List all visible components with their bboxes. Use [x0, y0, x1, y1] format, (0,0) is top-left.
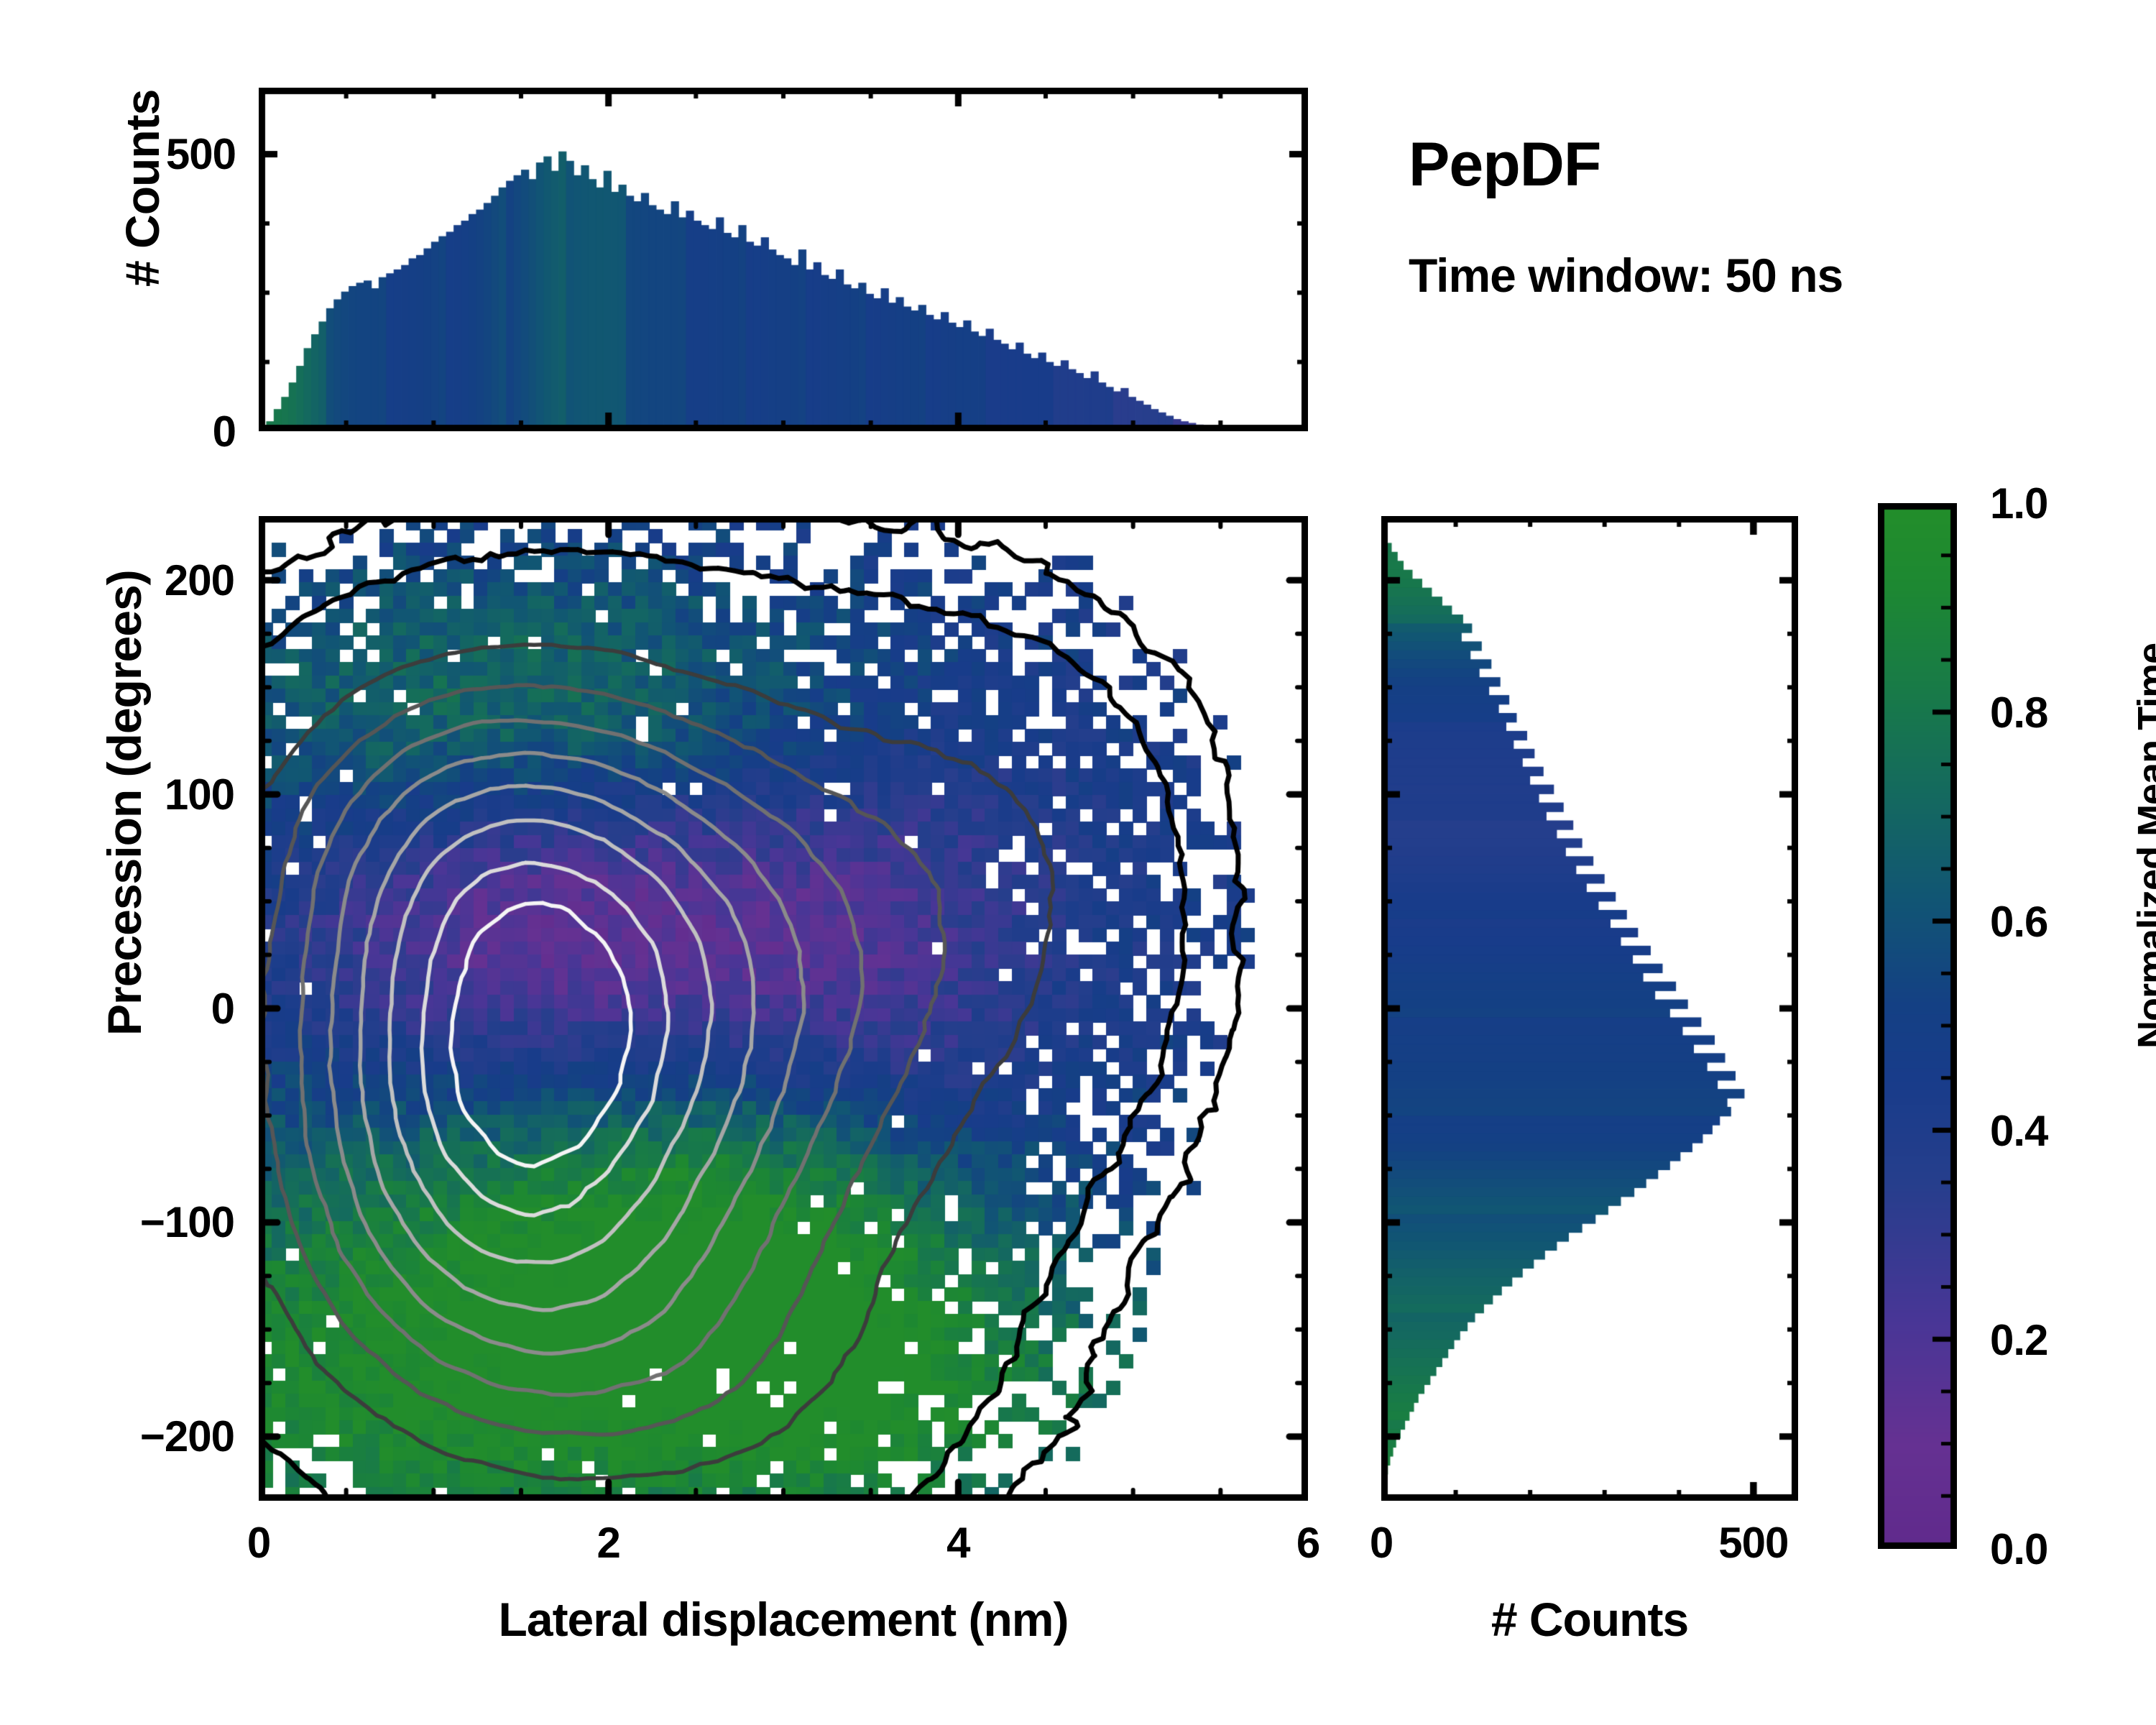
main-heatmap-panel [259, 516, 1308, 1501]
colorbar-label-normalized-mean-time: Normalized Mean Time [2129, 643, 2156, 1048]
colorbar-gradient [1878, 503, 1957, 1549]
right-marginal-panel [1381, 516, 1798, 1501]
colorbar-tick-0-4: 0.4 [1990, 1106, 2047, 1156]
right-xtick-0: 0 [1370, 1518, 1393, 1568]
top-marginal-histogram [259, 88, 1308, 431]
right-marginal-histogram [1381, 516, 1798, 1501]
main-ytick-neg100: −100 [140, 1197, 234, 1247]
figure-subtitle: Time window: 50 ns [1409, 248, 1843, 303]
main-ylabel-precession: Precession (degrees) [97, 570, 152, 1036]
main-ytick-0: 0 [211, 984, 234, 1034]
colorbar-tick-0-6: 0.6 [1990, 897, 2047, 947]
top-ytick-0: 0 [213, 407, 236, 456]
main-xtick-4: 4 [946, 1518, 969, 1568]
colorbar-tick-0-2: 0.2 [1990, 1315, 2047, 1365]
main-ytick-200: 200 [165, 556, 234, 605]
figure-root: 500 0 # Counts PepDF Time window: 50 ns … [0, 0, 2156, 1725]
main-ytick-100: 100 [165, 770, 234, 819]
main-xtick-2: 2 [596, 1518, 619, 1568]
joint-heatmap-canvas [259, 516, 1308, 1501]
main-xtick-0: 0 [247, 1518, 270, 1568]
right-xtick-500: 500 [1718, 1518, 1788, 1568]
colorbar-tick-1-0: 1.0 [1990, 479, 2047, 528]
colorbar-panel [1878, 503, 1957, 1549]
right-xlabel-counts: # Counts [1491, 1592, 1688, 1647]
colorbar-tick-0-0: 0.0 [1990, 1524, 2047, 1574]
top-marginal-panel [259, 88, 1308, 431]
top-ytick-500: 500 [166, 129, 236, 179]
main-ytick-neg200: −200 [140, 1412, 234, 1461]
main-xlabel-lateral-displacement: Lateral displacement (nm) [499, 1592, 1069, 1647]
main-xtick-6: 6 [1296, 1518, 1319, 1568]
top-ylabel-counts: # Counts [115, 90, 170, 287]
figure-title: PepDF [1409, 129, 1600, 201]
colorbar-tick-0-8: 0.8 [1990, 688, 2047, 737]
